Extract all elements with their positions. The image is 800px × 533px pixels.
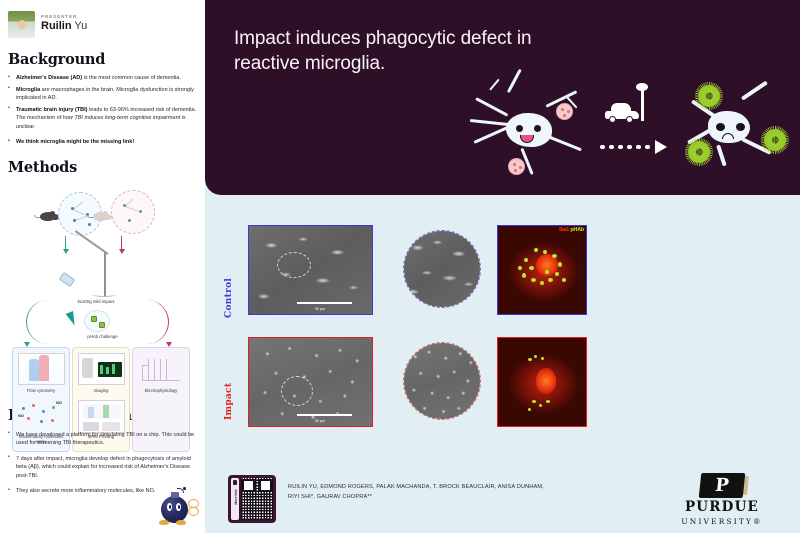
mouse-dark-icon [38,210,60,223]
micro-zoom-impact [403,342,481,420]
legend-iba1: Iba1 [559,227,569,233]
list-item: Microglia are macrophages in the brain. … [8,86,197,103]
row-label-impact: Impact [224,360,234,420]
eye-icon [716,123,725,131]
impactor-device-icon: 5x100g mild impact [60,252,132,304]
phab-dish-icon [84,310,110,332]
process-icon [470,119,510,126]
amyloid-green-icon [688,141,710,163]
method-label-imaging: Imaging [73,388,129,393]
arrow-shaft-left [65,236,66,250]
eye-icon [534,125,541,132]
frown-icon [722,133,734,139]
no-label: NO [56,400,62,405]
process-icon [548,135,582,151]
arrow-shaft-right [121,236,122,250]
micro-fluor-control: Iba1 pHAb [497,225,587,315]
list-item: Traumatic brain injury (TBI) leads to 63… [8,106,197,132]
scale-bar-label: 50 µm [315,307,325,311]
pipette-icon [66,311,79,327]
eye-icon [736,123,745,131]
amyloid-blob-icon [508,158,525,175]
micro-phase-impact: 50 µm [248,337,373,427]
background-heading: Background [8,51,197,68]
no-label: NO [18,413,24,418]
process-icon [475,97,508,116]
fluorescence-legend: Iba1 pHAb [559,227,584,233]
car-icon [605,103,641,123]
amyloid-green-icon [698,85,720,107]
bullet-text: is the most common cause of dementia. [82,75,181,81]
method-label-ephys: Electrophysiology [133,388,189,393]
bullet-strong: We think microglia might be the missing … [16,139,134,145]
pole-top-icon [636,83,648,91]
poster-root: PRESENTER Ruilin Yu Background Alzheimer… [0,0,800,533]
neuron-dish-impact [111,190,155,234]
amyloid-green-icon [764,129,786,151]
presenter-block: PRESENTER Ruilin Yu [8,9,197,39]
list-item: 7 days after impact, microglia develop d… [8,455,197,481]
left-sidebar: PRESENTER Ruilin Yu Background Alzheimer… [0,0,205,533]
qr-card[interactable]: More Info [228,475,276,523]
bomb-mascot-icon [155,487,203,531]
curve-left-head [24,342,30,347]
methods-heading: Methods [8,159,197,176]
bullet-strong: Microglia [16,87,40,93]
micro-fluor-impact [497,337,587,427]
presenter-first-name: Ruilin [41,20,72,32]
list-item: We think microglia might be the missing … [8,138,197,147]
authors-line-1: RUILIN YU, EDMOND ROGERS, PALAK MACHANDA… [288,483,618,493]
transition-arrow-icon [600,140,667,154]
bullet-strong: Alzheimer's Disease (AD) [16,75,82,81]
legend-phab: pHAb [570,227,584,233]
purdue-name: PURDUE [668,501,776,515]
avatar [8,11,35,38]
purdue-logo: P PURDUE UNIVERSITY® [668,473,776,526]
amyloid-blob-icon [556,103,573,120]
page-title: Impact induces phagocytic defect in reac… [234,26,564,76]
micro-zoom-control [403,230,481,308]
main-panel: Impact induces phagocytic defect in reac… [205,0,800,533]
list-item: We have developed a platform for simulat… [8,431,197,448]
qr-spine: More Info [231,478,239,520]
microglia-illustration [460,85,800,195]
presenter-last-name: Yu [74,20,87,32]
qr-label: More Info [234,486,238,508]
purdue-letter: P [699,473,746,498]
mouse-light-icon [91,210,113,223]
authors-line-2: RIYI SHI*, GAURAV CHOPRA** [288,493,618,503]
presenter-name: Ruilin Yu [41,21,87,33]
footer: More Info RUILIN YU, EDMOND ROGERS, PALA… [205,465,800,533]
author-list: RUILIN YU, EDMOND ROGERS, PALAK MACHANDA… [288,483,618,503]
qr-code[interactable] [241,478,273,520]
methods-figure: 5x100g mild impact pHAb challenge Flow c… [8,182,197,397]
eye-icon [516,125,523,132]
purdue-p-mark: P [700,473,744,498]
bullet-strong: Traumatic brain injury (TBI) [16,107,88,113]
curve-right-head [166,342,172,347]
list-item: Alzheimer's Disease (AD) is the most com… [8,74,197,83]
challenge-caption: pHAb challenge [8,334,197,339]
scale-bar-label: 50 µm [315,419,325,423]
method-label-flow: Flow cytometry [13,388,69,393]
results-bullets: We have developed a platform for simulat… [8,431,197,496]
micro-phase-control: 50 µm [248,225,373,315]
row-label-control: Control [224,258,234,318]
process-icon [716,144,727,166]
bullet-text: are macrophages in the brain. Microglia … [16,87,194,102]
process-icon [473,126,509,144]
purdue-subtitle: UNIVERSITY® [668,517,776,526]
background-bullets: Alzheimer's Disease (AD) is the most com… [8,74,197,147]
impact-caption: 5x100g mild impact [60,299,132,304]
